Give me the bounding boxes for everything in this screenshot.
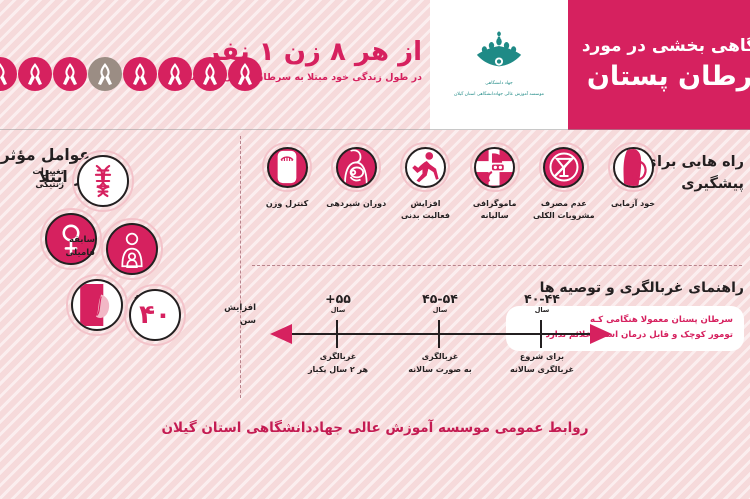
prevention-label-line-1: کنترل وزن	[266, 198, 308, 210]
prevention-label-line-1: عدم مصرف	[533, 198, 595, 210]
header-title-block: آگاهی بخشی در مورد سرطان پستان	[568, 0, 750, 130]
header: از هر ۸ زن ۱ نفر در طول زندگی خود مبتلا …	[0, 0, 750, 130]
risk-circle	[101, 218, 163, 280]
risk-label-line-1: تغییرات	[32, 166, 64, 179]
timeline-age-range: ۵۵+	[325, 292, 351, 306]
ribbon-icon	[18, 57, 52, 91]
timeline-description: غربالگری هر ۲ سال یکبار	[308, 351, 368, 377]
risk-circle	[72, 150, 134, 212]
prevention-label-line-2: مشروبات الکلی	[533, 210, 595, 222]
no-alcohol-icon	[543, 147, 584, 188]
timeline-arrow-right-icon	[590, 324, 612, 344]
prevention-item-physical-activity[interactable]: افزایش فعالیت بدنی	[392, 142, 458, 223]
prevention-label: افزایش فعالیت بدنی	[401, 198, 450, 223]
prevention-item-no-alcohol[interactable]: عدم مصرف مشروبات الکلی	[531, 142, 597, 223]
prevention-label: کنترل وزن	[266, 198, 308, 210]
prevention-panel: راه هایی برای پیشگیری خود آزمایی	[252, 140, 744, 260]
prevention-label-line-1: خود آزمایی	[611, 198, 655, 210]
prevention-label-line-1: دوران شیردهی	[326, 198, 386, 210]
header-title-line-2: سرطان پستان	[587, 60, 750, 94]
timeline-arrow-left-icon	[270, 324, 292, 344]
jahad-daneshgahi-logo-icon	[472, 31, 526, 77]
self-exam-icon	[613, 147, 654, 188]
prevention-items-row: خود آزمایی	[254, 142, 666, 223]
timeline-age-unit: سال	[325, 306, 351, 314]
prevention-circle	[539, 142, 589, 192]
prevention-item-mammography[interactable]: ماموگرافی سالیانه	[462, 142, 528, 223]
running-icon	[405, 147, 446, 188]
header-divider	[0, 129, 750, 130]
header-title-line-1: آگاهی بخشی در مورد	[582, 36, 750, 56]
prevention-circle	[262, 142, 312, 192]
infographic-page: از هر ۸ زن ۱ نفر در طول زندگی خود مبتلا …	[0, 0, 750, 499]
prevention-label-line-1: ماموگرافی	[473, 198, 517, 210]
ribbon-icon	[193, 57, 227, 91]
family-history-icon	[106, 223, 158, 275]
risk-circle	[66, 274, 128, 336]
risk-label-line-1: سابقه	[65, 234, 95, 247]
timeline-desc-line-2: به صورت سالانه	[408, 364, 472, 377]
timeline-age-range: ۴۰-۴۴	[524, 292, 560, 306]
prevention-label-line-1: افزایش	[401, 198, 450, 210]
prevention-label: خود آزمایی	[611, 198, 655, 210]
timeline-age-range: ۴۵-۵۴	[422, 292, 458, 306]
prevention-label: ماموگرافی سالیانه	[473, 198, 517, 223]
timeline-age-group: ۴۵-۵۴ سال	[422, 292, 458, 314]
prevention-label: دوران شیردهی	[326, 198, 386, 210]
weight-scale-icon	[267, 147, 308, 188]
risk-factor-genetic[interactable]: تغییرات ژنتیکی	[72, 150, 134, 212]
timeline-tick	[540, 320, 542, 348]
timeline-age-unit: سال	[524, 306, 560, 314]
timeline-desc-line-1: غربالگری	[308, 351, 368, 364]
footer: روابط عمومی موسسه آموزش عالی جهاددانشگاه…	[0, 408, 750, 448]
logo-caption-line-2: موسسه آموزش عالی جهاددانشگاهی استان گیلا…	[454, 92, 544, 99]
ribbon-icon	[228, 57, 262, 91]
timeline-desc-line-2: غربالگری سالانه	[510, 364, 574, 377]
horizontal-dashed-divider	[252, 265, 742, 266]
prevention-item-weight-control[interactable]: کنترل وزن	[254, 142, 320, 223]
age-value: ۴۰	[139, 302, 171, 328]
prevention-circle	[331, 142, 381, 192]
timeline-age-unit: سال	[422, 306, 458, 314]
prevention-item-breastfeeding[interactable]: دوران شیردهی	[323, 142, 389, 223]
risk-label-line-2: ژنتیکی	[32, 179, 64, 192]
timeline-description: برای شروع غربالگری سالانه	[510, 351, 574, 377]
ribbon-icon	[158, 57, 192, 91]
prevention-label: عدم مصرف مشروبات الکلی	[533, 198, 595, 223]
timeline-tick	[336, 320, 338, 348]
prevention-circle	[470, 142, 520, 192]
footer-text: روابط عمومی موسسه آموزش عالی جهاددانشگاه…	[162, 420, 589, 436]
vertical-dashed-divider	[240, 136, 241, 398]
timeline-desc-line-1: غربالگری	[408, 351, 472, 364]
risk-factor-breast-density[interactable]: تراکم بافت سینه	[66, 274, 128, 336]
risk-factors-panel: عوامل مؤثر در ابتلا تغییرات ژن	[0, 136, 240, 398]
ribbon-icon	[0, 57, 17, 91]
timeline-description: غربالگری به صورت سالانه	[408, 351, 472, 377]
ribbon-icon	[53, 57, 87, 91]
screening-panel: راهنمای غربالگری و توصیه ها سرطان پستان …	[252, 272, 744, 390]
breastfeeding-icon	[336, 147, 377, 188]
timeline-tick	[438, 320, 440, 348]
risk-factor-label: تغییرات ژنتیکی	[32, 166, 64, 192]
mammography-icon	[474, 147, 515, 188]
risk-factor-family-history[interactable]: سابقه فامیلی	[101, 218, 163, 280]
timeline-age-group: ۵۵+ سال	[325, 292, 351, 314]
prevention-circle	[400, 142, 450, 192]
prevention-item-self-exam[interactable]: خود آزمایی	[600, 142, 666, 223]
dna-icon	[77, 155, 129, 207]
timeline-desc-line-2: هر ۲ سال یکبار	[308, 364, 368, 377]
risk-circle: ۴۰	[124, 284, 186, 346]
timeline-desc-line-1: برای شروع	[510, 351, 574, 364]
prevention-label-line-2: سالیانه	[473, 210, 517, 222]
screening-timeline: ۴۰-۴۴ سال برای شروع غربالگری سالانه ۴۵-۵…	[256, 294, 626, 389]
prevention-circle	[608, 142, 658, 192]
ribbon-icon	[123, 57, 157, 91]
risk-label-line-2: فامیلی	[65, 247, 95, 260]
breast-density-icon	[71, 279, 123, 331]
risk-factor-age[interactable]: ۴۰ افزایش سن	[124, 284, 186, 346]
logo-caption-line-1: جهاد دانشگاهی	[485, 81, 512, 88]
risk-factor-label: سابقه فامیلی	[65, 234, 95, 260]
ribbon-icon-highlighted	[88, 57, 122, 91]
ribbon-row	[0, 57, 262, 91]
timeline-age-group: ۴۰-۴۴ سال	[524, 292, 560, 314]
statistic-strip: از هر ۸ زن ۱ نفر در طول زندگی خود مبتلا …	[0, 0, 430, 130]
age-40-icon: ۴۰	[129, 289, 181, 341]
organization-logo-block: جهاد دانشگاهی موسسه آموزش عالی جهاددانشگ…	[430, 0, 568, 130]
prevention-label-line-2: فعالیت بدنی	[401, 210, 450, 222]
